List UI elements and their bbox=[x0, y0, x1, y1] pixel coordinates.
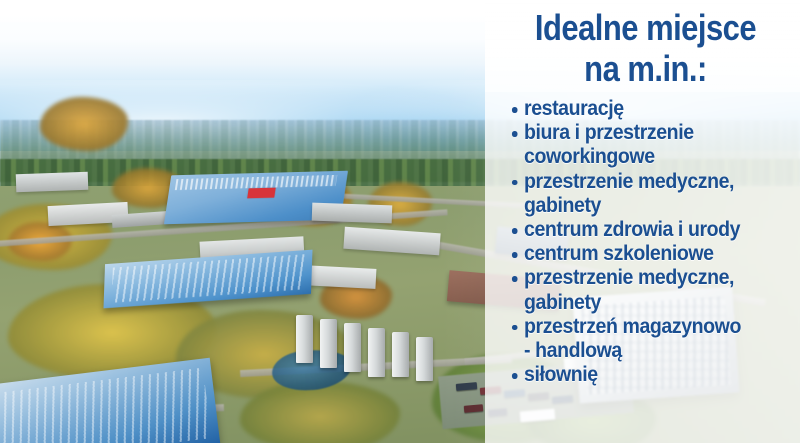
warehouse-building bbox=[312, 202, 393, 222]
list-item: przestrzenie medyczne, gabinety bbox=[511, 170, 774, 218]
title-line-1: Idealne miejsce bbox=[535, 7, 756, 48]
top-white-band bbox=[0, 0, 485, 22]
list-item: biura i przestrzenie coworkingowe bbox=[511, 121, 774, 169]
list-item: przestrzeń magazynowo - handlową bbox=[511, 315, 774, 363]
page-title: Idealne miejsce na m.in.: bbox=[518, 4, 773, 89]
vegetation-patch bbox=[240, 381, 400, 443]
storage-silo bbox=[416, 337, 433, 381]
red-facade-accent bbox=[247, 188, 276, 198]
title-line-2: na m.in.: bbox=[518, 48, 773, 89]
poster: Idealne miejsce na m.in.: restaurację bi… bbox=[0, 0, 800, 443]
storage-silo bbox=[392, 332, 409, 376]
list-item: siłownię bbox=[511, 363, 774, 387]
list-item: restaurację bbox=[511, 97, 774, 121]
list-item: przestrzenie medyczne, gabinety bbox=[511, 266, 774, 314]
list-item: centrum szkoleniowe bbox=[511, 242, 774, 266]
storage-silo bbox=[296, 315, 313, 364]
storage-silo bbox=[320, 319, 337, 368]
storage-silo bbox=[344, 323, 361, 372]
vegetation-patch bbox=[40, 97, 128, 150]
list-item: centrum zdrowia i urody bbox=[511, 218, 774, 242]
text-content: Idealne miejsce na m.in.: restaurację bi… bbox=[485, 0, 800, 443]
warehouse-building bbox=[16, 172, 89, 192]
storage-silo bbox=[368, 328, 385, 377]
usage-list: restaurację biura i przestrzenie coworki… bbox=[511, 97, 794, 387]
